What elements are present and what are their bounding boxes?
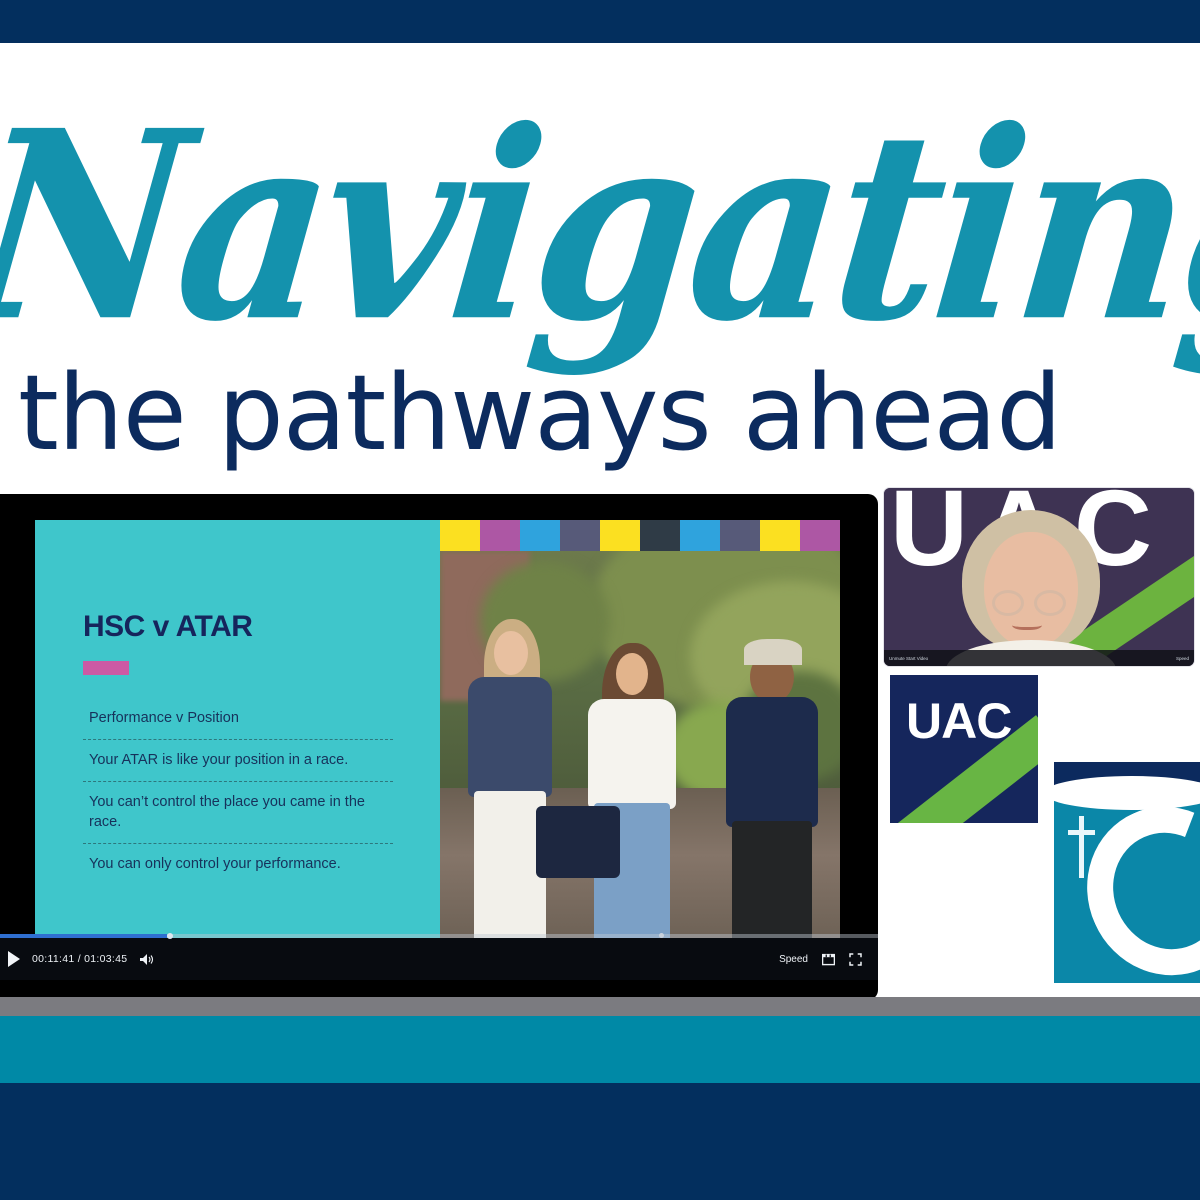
slide-title: HSC v ATAR <box>83 610 252 644</box>
cross-icon <box>1079 816 1084 878</box>
webcam-bg-letter: U <box>890 488 968 582</box>
video-controls-bar[interactable]: 00:11:41 / 01:03:45 Speed <box>0 938 878 980</box>
college-crest-logo <box>1054 762 1200 983</box>
crest-c-swoosh <box>1060 781 1200 983</box>
glasses-icon <box>992 590 1024 616</box>
slide-divider <box>83 781 393 782</box>
webcam-tile[interactable]: U A C Unmute Start Video Speed <box>884 488 1194 666</box>
slide-accent-rule <box>83 661 129 675</box>
cross-icon <box>1068 830 1095 835</box>
bottom-navy-band <box>0 1083 1200 1200</box>
bottom-teal-band <box>0 1016 1200 1083</box>
bottom-gray-band <box>0 997 1200 1016</box>
color-bar-segment <box>640 520 680 551</box>
crest-wave-shape <box>1054 776 1200 810</box>
webcam-bar-left-label[interactable]: Unmute Start Video <box>889 656 928 661</box>
presentation-slide-left: HSC v ATAR Performance v Position Your A… <box>35 520 440 938</box>
fullscreen-icon[interactable] <box>849 953 862 966</box>
presenter-smile <box>1012 618 1042 630</box>
video-progress-handle[interactable] <box>167 933 173 939</box>
page-title-script: Navigating <box>0 63 1182 399</box>
uac-logo-text: UAC <box>906 696 1011 746</box>
page-subtitle: the pathways ahead <box>18 353 1198 473</box>
play-icon[interactable] <box>8 951 20 967</box>
video-controls-left[interactable]: 00:11:41 / 01:03:45 <box>8 938 154 980</box>
slide-bullet: You can’t control the place you came in … <box>83 782 393 843</box>
presenter-face <box>984 532 1078 648</box>
top-navy-band <box>0 0 1200 43</box>
video-controls-right[interactable]: Speed <box>779 938 862 980</box>
slide-bullet: Your ATAR is like your position in a rac… <box>83 740 393 781</box>
color-bar-segment <box>760 520 800 551</box>
video-player[interactable]: HSC v ATAR Performance v Position Your A… <box>0 494 878 1000</box>
slide-bullet-list: Performance v Position Your ATAR is like… <box>83 698 393 885</box>
uac-logo: UAC <box>890 675 1038 823</box>
color-bar-segment <box>600 520 640 551</box>
color-bar-segment <box>680 520 720 551</box>
slide-divider <box>83 739 393 740</box>
color-bar-segment <box>560 520 600 551</box>
color-bar-segment <box>440 520 480 551</box>
chapter-marker[interactable] <box>659 933 664 938</box>
theater-mode-icon[interactable] <box>822 953 835 966</box>
slide-divider <box>83 843 393 844</box>
color-bar-segment <box>720 520 760 551</box>
hero-title-area: Navigating the pathways ahead <box>0 43 1200 494</box>
video-stage[interactable]: HSC v ATAR Performance v Position Your A… <box>35 520 840 938</box>
time-display: 00:11:41 / 01:03:45 <box>32 953 127 965</box>
webcam-bar-right-label[interactable]: Speed <box>1176 656 1189 661</box>
color-bar-segment <box>800 520 840 551</box>
presentation-slide-photo <box>440 520 840 938</box>
slide-color-bar <box>440 520 840 551</box>
color-bar-segment <box>520 520 560 551</box>
slide-bullet: Performance v Position <box>83 698 393 739</box>
slide-bullet: You can only control your performance. <box>83 844 393 885</box>
color-bar-segment <box>480 520 520 551</box>
volume-icon[interactable] <box>139 953 154 966</box>
glasses-icon <box>1034 590 1066 616</box>
students-photo <box>440 551 840 938</box>
webcam-controls-bar[interactable]: Unmute Start Video Speed <box>884 650 1194 666</box>
speed-button[interactable]: Speed <box>779 954 808 965</box>
